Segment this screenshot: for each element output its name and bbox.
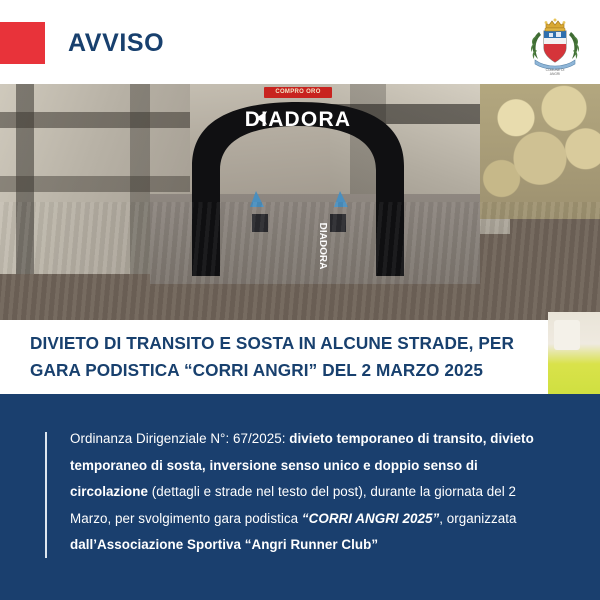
crest-caption-line2: ANGRI: [550, 72, 561, 76]
announcement-title-line-1: DIVIETO DI TRANSITO E SOSTA IN ALCUNE ST…: [30, 330, 530, 357]
red-accent-block: [0, 22, 45, 64]
photo-trees: [480, 84, 600, 219]
body-segment-3: “CORRI ANGRI 2025”: [302, 511, 439, 526]
vertical-accent-rule: [45, 432, 47, 558]
announcement-body-text: Ordinanza Dirigenziale N°: 67/2025: divi…: [70, 426, 558, 559]
page-title: AVVISO: [68, 27, 164, 59]
comune-di-angri-crest-icon: COMUNE DI ANGRI: [526, 12, 584, 76]
runner-right-edge: [548, 312, 600, 396]
poster-header: AVVISO: [0, 0, 600, 84]
body-segment-4: , organizzata: [439, 511, 516, 526]
announcement-title-line-2: GARA PODISTICA “CORRI ANGRI” DEL 2 MARZO…: [30, 357, 530, 384]
body-segment-5: dall’Associazione Sportiva “Angri Runner…: [70, 537, 378, 552]
body-segment-0: Ordinanza Dirigenziale N°: 67/2025:: [70, 431, 289, 446]
compro-oro-banner: COMPRO ORO: [264, 87, 332, 98]
compro-oro-banner-label: COMPRO ORO: [264, 87, 332, 98]
avviso-poster: AVVISO: [0, 0, 600, 600]
announcement-body-section: Ordinanza Dirigenziale N°: 67/2025: divi…: [0, 394, 600, 600]
announcement-title-panel: DIVIETO DI TRANSITO E SOSTA IN ALCUNE ST…: [0, 320, 548, 394]
